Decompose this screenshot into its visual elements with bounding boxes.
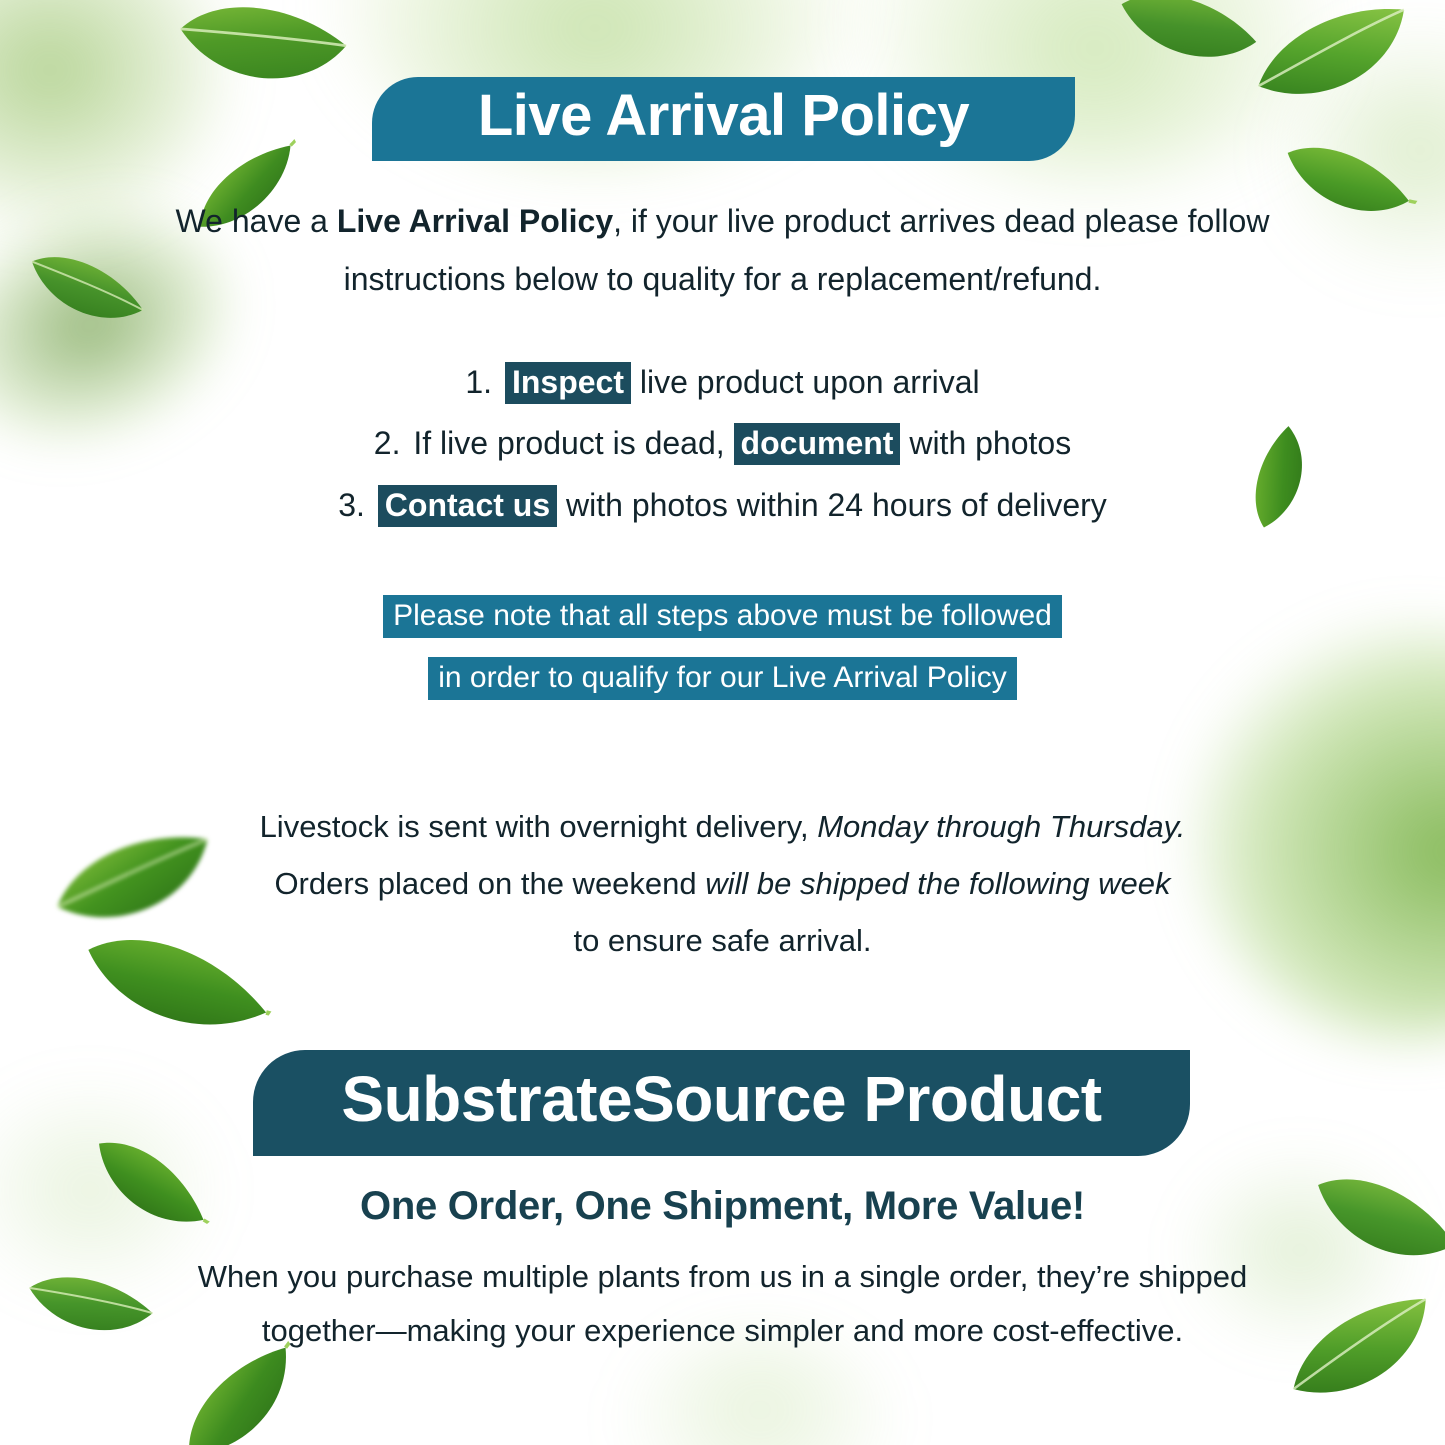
shipping-plain-2: Orders placed on the weekend — [274, 866, 705, 901]
step-after: with photos — [909, 425, 1071, 461]
intro-text-pre: We have a — [176, 203, 337, 239]
product-title: SubstrateSource Product — [341, 1067, 1101, 1131]
shipping-line-1: Livestock is sent with overnight deliver… — [260, 809, 1186, 844]
product-body-line-1: When you purchase multiple plants from u… — [198, 1259, 1247, 1294]
step-number: 2. — [374, 425, 401, 461]
product-subheading: One Order, One Shipment, More Value! — [150, 1184, 1295, 1229]
product-title-banner: SubstrateSource Product — [253, 1050, 1190, 1156]
shipping-line-2: Orders placed on the weekend will be shi… — [274, 866, 1170, 901]
step-keyword-highlight: Inspect — [505, 362, 631, 404]
step-after: live product upon arrival — [640, 364, 980, 400]
note-line-1: Please note that all steps above must be… — [383, 595, 1062, 638]
step-number: 1. — [465, 364, 492, 400]
page-title: Live Arrival Policy — [478, 87, 969, 145]
note-line-2: in order to qualify for our Live Arrival… — [428, 657, 1017, 700]
step-after: with photos within 24 hours of delivery — [566, 487, 1107, 523]
content-layer: Live Arrival Policy We have a Live Arriv… — [0, 0, 1445, 1445]
intro-line-1: We have a Live Arrival Policy, if your l… — [176, 203, 1270, 239]
live-arrival-policy-infographic: Live Arrival Policy We have a Live Arriv… — [0, 0, 1445, 1445]
shipping-italic-1: Monday through Thursday. — [817, 809, 1185, 844]
shipping-plain-1: Livestock is sent with overnight deliver… — [260, 809, 818, 844]
step-number: 3. — [338, 487, 365, 523]
list-item: 2. If live product is dead, document wit… — [150, 413, 1295, 474]
intro-policy-bold: Live Arrival Policy — [337, 203, 613, 239]
shipping-italic-2: will be shipped the following week — [705, 866, 1170, 901]
product-body-line-2: together—making your experience simpler … — [262, 1313, 1183, 1348]
intro-text-post: , if your live product arrives dead plea… — [613, 203, 1269, 239]
intro-paragraph: We have a Live Arrival Policy, if your l… — [150, 192, 1295, 308]
step-keyword-highlight: document — [734, 423, 901, 465]
list-item: 1. Inspect live product upon arrival — [150, 352, 1295, 413]
intro-line-2: instructions below to quality for a repl… — [344, 261, 1102, 297]
product-description: When you purchase multiple plants from u… — [140, 1250, 1305, 1358]
shipping-line-3: to ensure safe arrival. — [573, 923, 871, 958]
policy-note-callout: Please note that all steps above must be… — [150, 585, 1295, 708]
shipping-paragraph: Livestock is sent with overnight deliver… — [150, 798, 1295, 969]
steps-list: 1. Inspect live product upon arrival 2. … — [150, 352, 1295, 536]
page-title-banner: Live Arrival Policy — [372, 77, 1075, 161]
step-keyword-highlight: Contact us — [378, 485, 557, 527]
step-before: If live product is dead, — [413, 425, 733, 461]
list-item: 3. Contact us with photos within 24 hour… — [150, 475, 1295, 536]
